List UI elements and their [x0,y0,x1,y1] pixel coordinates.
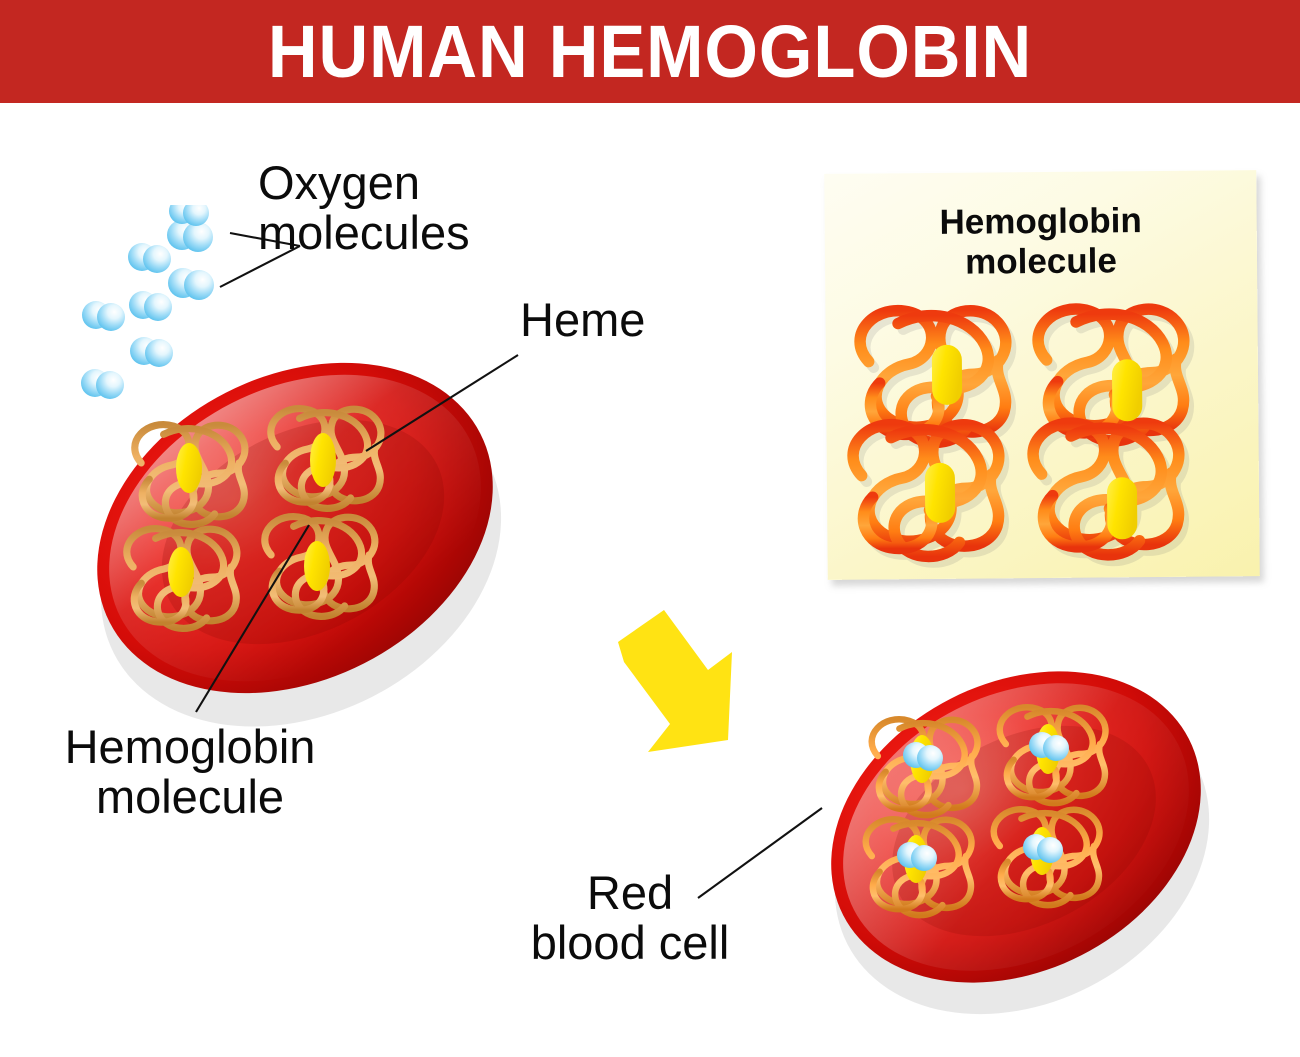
globin-subunit [1033,422,1180,555]
arrow-down-right-icon [618,610,732,752]
oxygen-atom [1037,837,1063,863]
leader-lines-red-blood-cell [690,800,890,910]
oxygen-atom [911,845,937,871]
oxygen-atom [1043,735,1069,761]
heme-group [1107,477,1138,539]
diagram-canvas: HUMAN HEMOGLOBIN [0,0,1300,1057]
leader-line-heme [366,355,518,451]
label-heme: Heme [520,295,720,345]
label-hemoglobin-molecule: Hemoglobin molecule [30,722,350,822]
heme-group [932,345,963,405]
title-banner: HUMAN HEMOGLOBIN [0,0,1300,103]
page-title: HUMAN HEMOGLOBIN [46,0,1255,103]
leader-line-red-blood-cell [698,808,822,898]
leader-line-hemoglobin-molecule [196,525,309,712]
heme-group [1112,359,1143,421]
hemoglobin-molecule-illustration [839,290,1245,569]
heme-group [925,463,956,523]
panel-title: Hemoglobin molecule [824,200,1257,284]
transition-arrow [600,600,780,790]
oxygen-atom [917,745,943,771]
hemoglobin-molecule-panel: Hemoglobin molecule [824,170,1260,580]
label-oxygen-molecules: Oxygen molecules [258,158,508,258]
